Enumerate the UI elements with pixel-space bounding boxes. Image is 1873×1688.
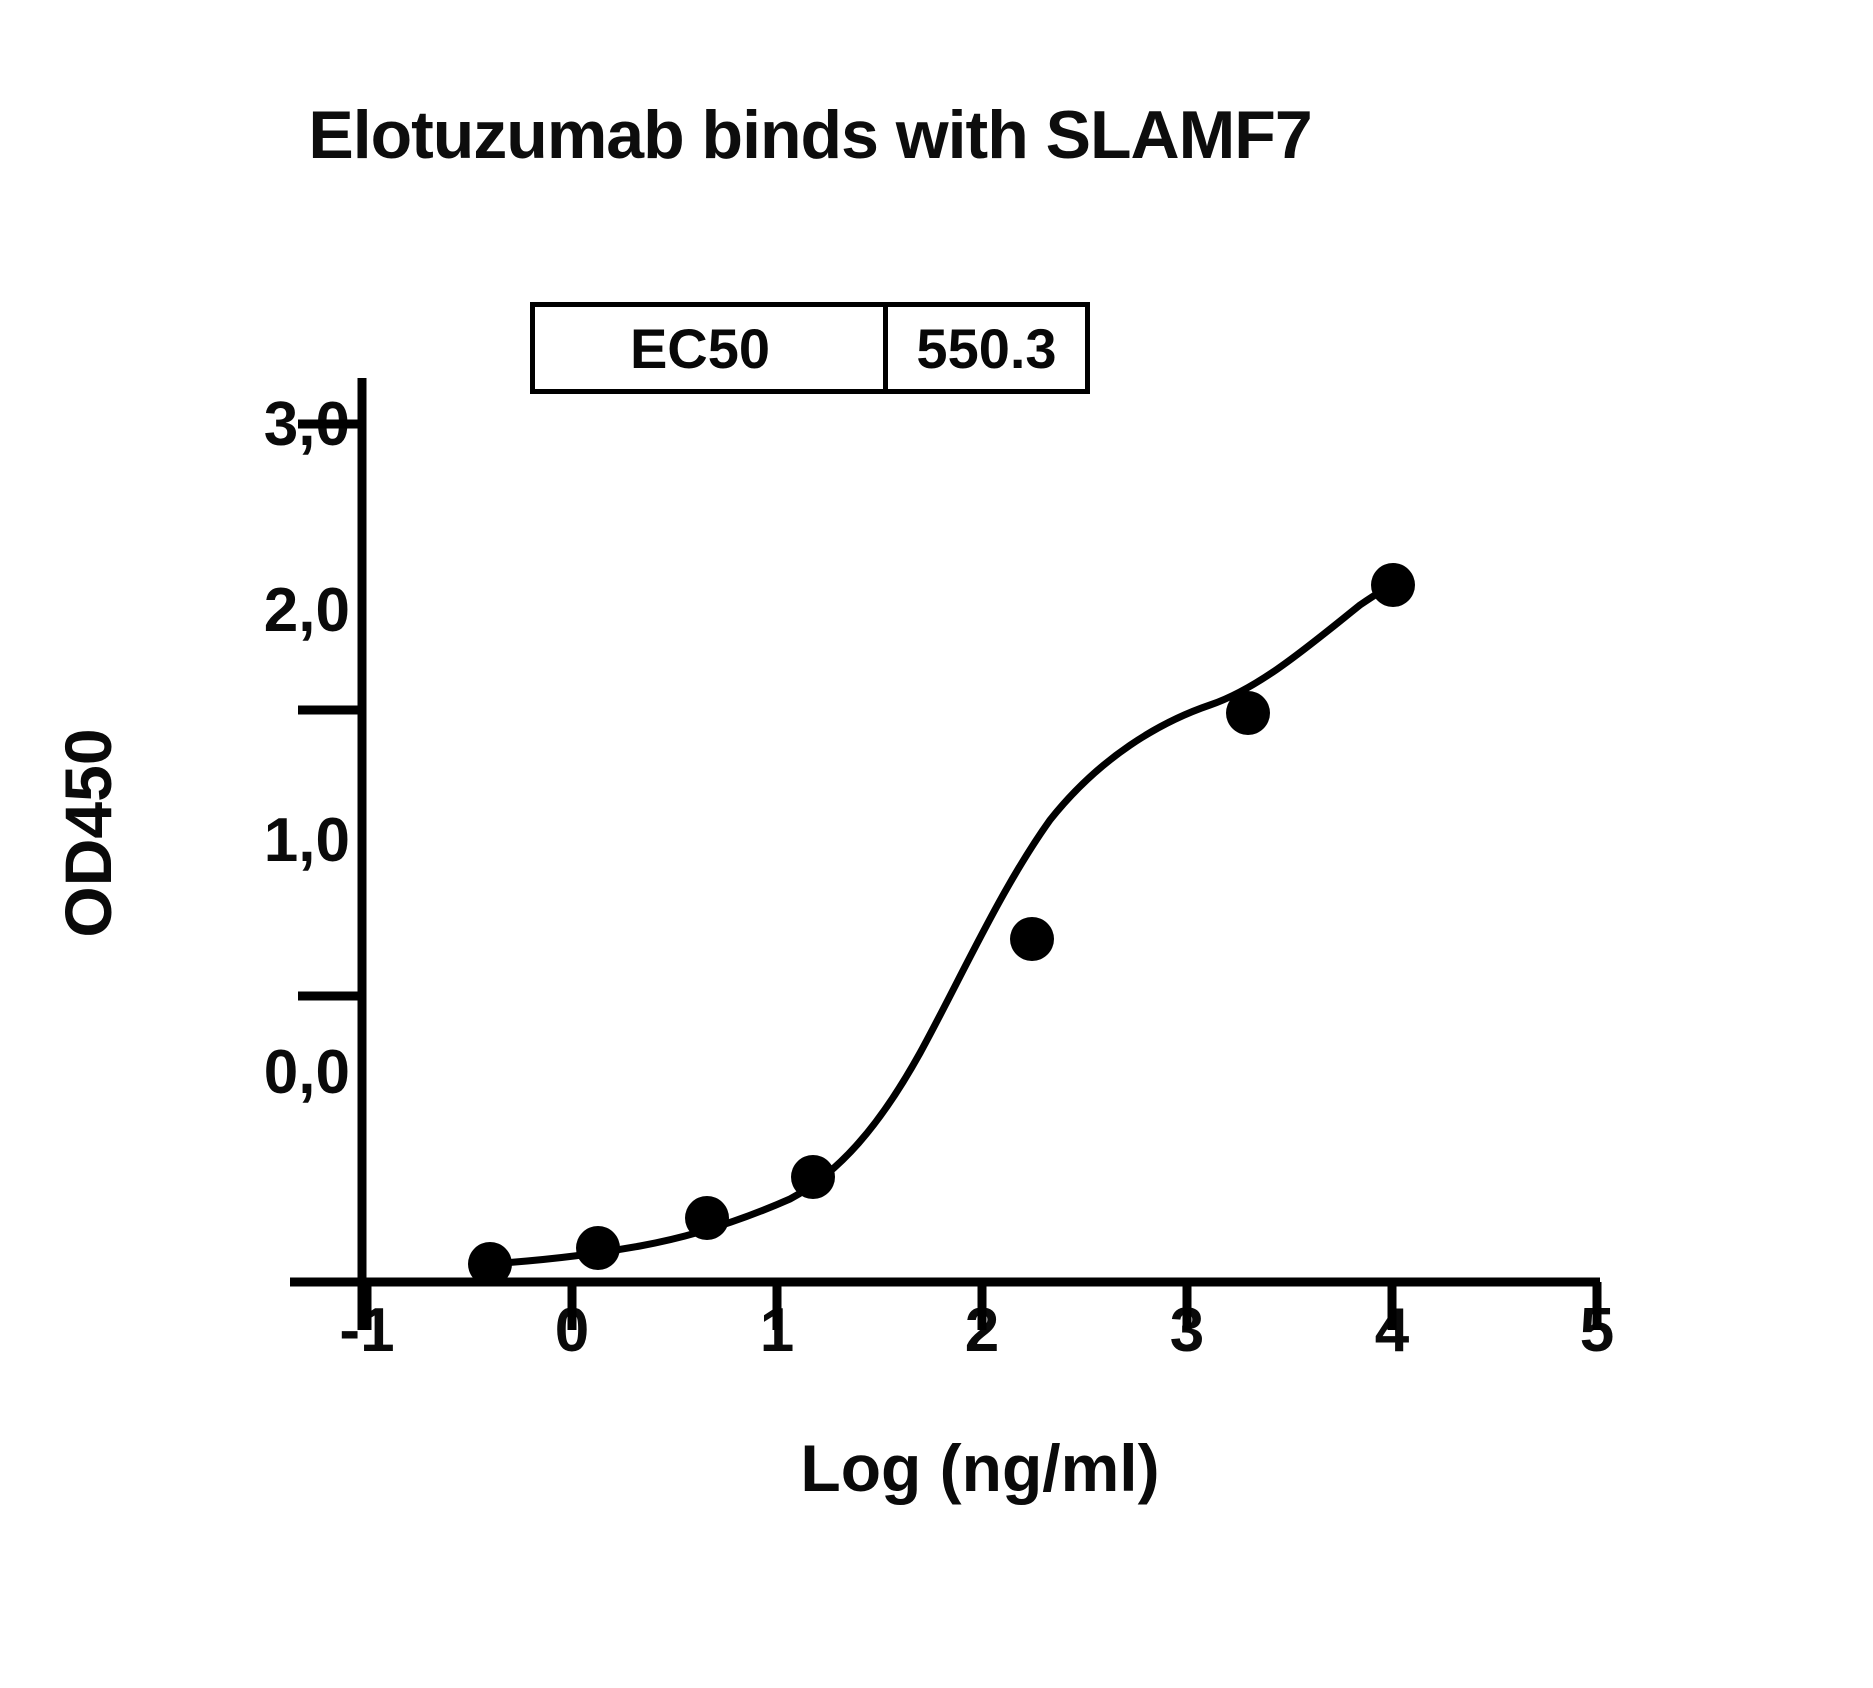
y-axis-tick-labels: 3,0 2,0 1,0 0,0 [140, 0, 350, 1688]
data-point [468, 1242, 512, 1286]
y-tick-label-3: 3,0 [140, 394, 350, 456]
data-point [1371, 563, 1415, 607]
y-tick-label-2: 2,0 [140, 580, 350, 642]
y-axis-title: OD450 [50, 623, 126, 1043]
data-point [1010, 917, 1054, 961]
y-tick-label-1: 1,0 [140, 810, 350, 872]
data-point [576, 1226, 620, 1270]
dose-response-curve [490, 581, 1400, 1264]
ec50-summary-table: EC50 550.3 [530, 302, 1090, 394]
chart-figure: Elotuzumab binds with SLAMF7 EC50 550.3 … [0, 0, 1873, 1688]
x-tick-label-3: 3 [1127, 1300, 1247, 1362]
x-axis-title: Log (ng/ml) [360, 1430, 1600, 1506]
ec50-value-cell: 550.3 [888, 307, 1085, 389]
data-point [1226, 691, 1270, 735]
x-tick-label-4: 4 [1332, 1300, 1452, 1362]
y-tick-label-0: 0,0 [140, 1042, 350, 1104]
x-tick-label-0: 0 [512, 1300, 632, 1362]
x-axis-tick-labels: -1 0 1 2 3 4 5 [0, 1300, 1873, 1410]
x-tick-label-5: 5 [1537, 1300, 1657, 1362]
ec50-label-cell: EC50 [535, 307, 888, 389]
data-point [685, 1196, 729, 1240]
x-tick-label--1: -1 [307, 1300, 427, 1362]
x-tick-label-1: 1 [717, 1300, 837, 1362]
data-point [791, 1155, 835, 1199]
data-point-markers [468, 563, 1415, 1286]
x-tick-label-2: 2 [922, 1300, 1042, 1362]
